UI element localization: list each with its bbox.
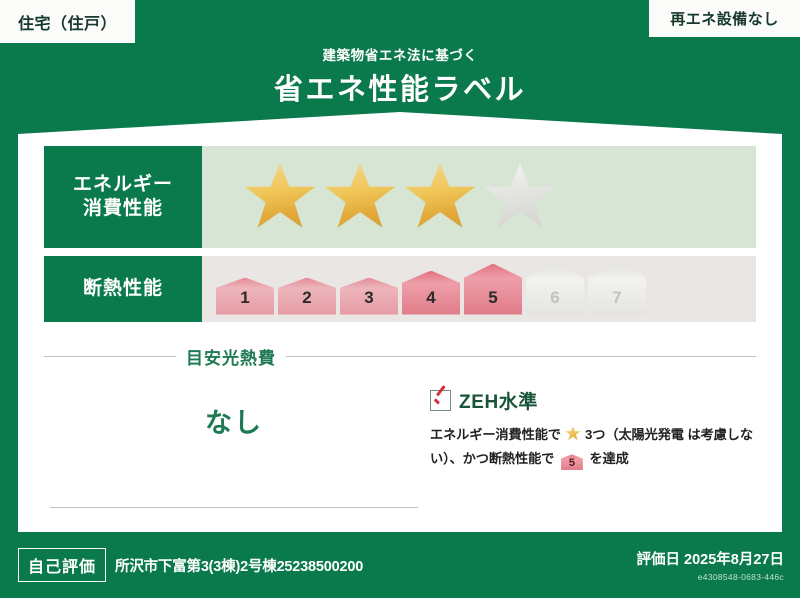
house-icon-grade-4: 4 bbox=[402, 271, 460, 315]
zeh-desc-star-count: 3つ（太陽光発電 bbox=[585, 427, 684, 442]
insulation-performance-value: 1234567 bbox=[202, 256, 756, 322]
house-grade-number: 5 bbox=[488, 288, 497, 308]
house-grade-number: 1 bbox=[240, 288, 249, 308]
label-title-block: 建築物省エネ法に基づく 省エネ性能ラベル bbox=[0, 44, 800, 108]
energy-performance-row: エネルギー 消費性能 bbox=[44, 146, 756, 248]
energy-label-line-2: 消費性能 bbox=[83, 197, 163, 221]
label-subtitle: 建築物省エネ法に基づく bbox=[0, 44, 800, 64]
house-icon-grade-7: 7 bbox=[588, 264, 646, 315]
utility-cost-block: なし bbox=[44, 387, 424, 472]
lower-content: なし ZEH水準 エネルギー消費性能で 3つ（太陽光発電 は考慮しない）、かつ断… bbox=[44, 387, 756, 472]
house-icon-grade-6: 6 bbox=[526, 264, 584, 315]
energy-performance-label: エネルギー 消費性能 bbox=[44, 146, 202, 248]
utility-cost-title: 目安光熱費 bbox=[176, 344, 286, 369]
insulation-performance-label: 断熱性能 bbox=[44, 256, 202, 322]
star-icon-filled-2 bbox=[324, 163, 396, 231]
footer-right: 評価日 2025年8月27日 e4308548-0683-446c bbox=[637, 548, 800, 582]
evaluation-type-badge: 自己評価 bbox=[18, 548, 106, 582]
house-icon-grade-5: 5 bbox=[464, 264, 522, 315]
divider-left bbox=[44, 356, 176, 357]
energy-label-line-1: エネルギー bbox=[73, 173, 173, 197]
house-icon-grade-2: 2 bbox=[278, 278, 336, 315]
check-icon bbox=[430, 390, 451, 411]
house-grade-number: 4 bbox=[426, 288, 435, 308]
label-main-panel: エネルギー 消費性能 断熱性能 1234 bbox=[18, 112, 782, 532]
house-icon-grade-1: 1 bbox=[216, 278, 274, 315]
divider-right bbox=[286, 356, 756, 357]
insulation-grade-scale: 1234567 bbox=[216, 264, 646, 315]
zeh-description: エネルギー消費性能で 3つ（太陽光発電 は考慮しない）、かつ断熱性能で 5 を達… bbox=[430, 423, 756, 472]
zeh-desc-part-1: エネルギー消費性能で bbox=[430, 427, 561, 442]
renewable-energy-tag: 再エネ設備なし bbox=[648, 0, 800, 38]
house-grade-number: 7 bbox=[612, 288, 621, 308]
utility-cost-value: なし bbox=[44, 387, 424, 440]
house-badge-inline: 5 bbox=[561, 454, 583, 470]
house-grade-number: 6 bbox=[550, 288, 559, 308]
star-rating bbox=[244, 163, 556, 231]
house-grade-number: 3 bbox=[364, 288, 373, 308]
insulation-label-text: 断熱性能 bbox=[83, 277, 163, 301]
insulation-performance-row: 断熱性能 1234567 bbox=[44, 256, 756, 322]
star-icon-filled-1 bbox=[244, 163, 316, 231]
page-title: 省エネ性能ラベル bbox=[0, 66, 800, 108]
house-badge-number: 5 bbox=[569, 457, 575, 469]
utility-cost-section-header: 目安光熱費 bbox=[44, 344, 756, 369]
house-icon-grade-3: 3 bbox=[340, 278, 398, 315]
star-icon-inline bbox=[565, 426, 580, 441]
building-type-tag: 住宅（住戸） bbox=[0, 0, 136, 44]
zeh-header: ZEH水準 bbox=[430, 387, 756, 414]
energy-performance-value bbox=[202, 146, 756, 248]
evaluation-date: 評価日 2025年8月27日 bbox=[637, 548, 784, 569]
building-name: 所沢市下富第3(3棟)2号棟25238500200 bbox=[115, 555, 363, 576]
zeh-desc-part-3: を達成 bbox=[589, 451, 628, 466]
label-footer: 自己評価 所沢市下富第3(3棟)2号棟25238500200 評価日 2025年… bbox=[0, 532, 800, 598]
zeh-block: ZEH水準 エネルギー消費性能で 3つ（太陽光発電 は考慮しない）、かつ断熱性能… bbox=[424, 387, 756, 472]
energy-performance-label: 住宅（住戸） 再エネ設備なし 建築物省エネ法に基づく 省エネ性能ラベル エネルギ… bbox=[0, 0, 800, 598]
zeh-title: ZEH水準 bbox=[459, 387, 538, 414]
star-icon-empty-4 bbox=[484, 163, 556, 231]
footer-left: 自己評価 所沢市下富第3(3棟)2号棟25238500200 bbox=[0, 548, 637, 582]
house-grade-number: 2 bbox=[302, 288, 311, 308]
utility-cost-divider bbox=[50, 507, 418, 508]
evaluation-id: e4308548-0683-446c bbox=[637, 572, 784, 582]
star-icon-filled-3 bbox=[404, 163, 476, 231]
